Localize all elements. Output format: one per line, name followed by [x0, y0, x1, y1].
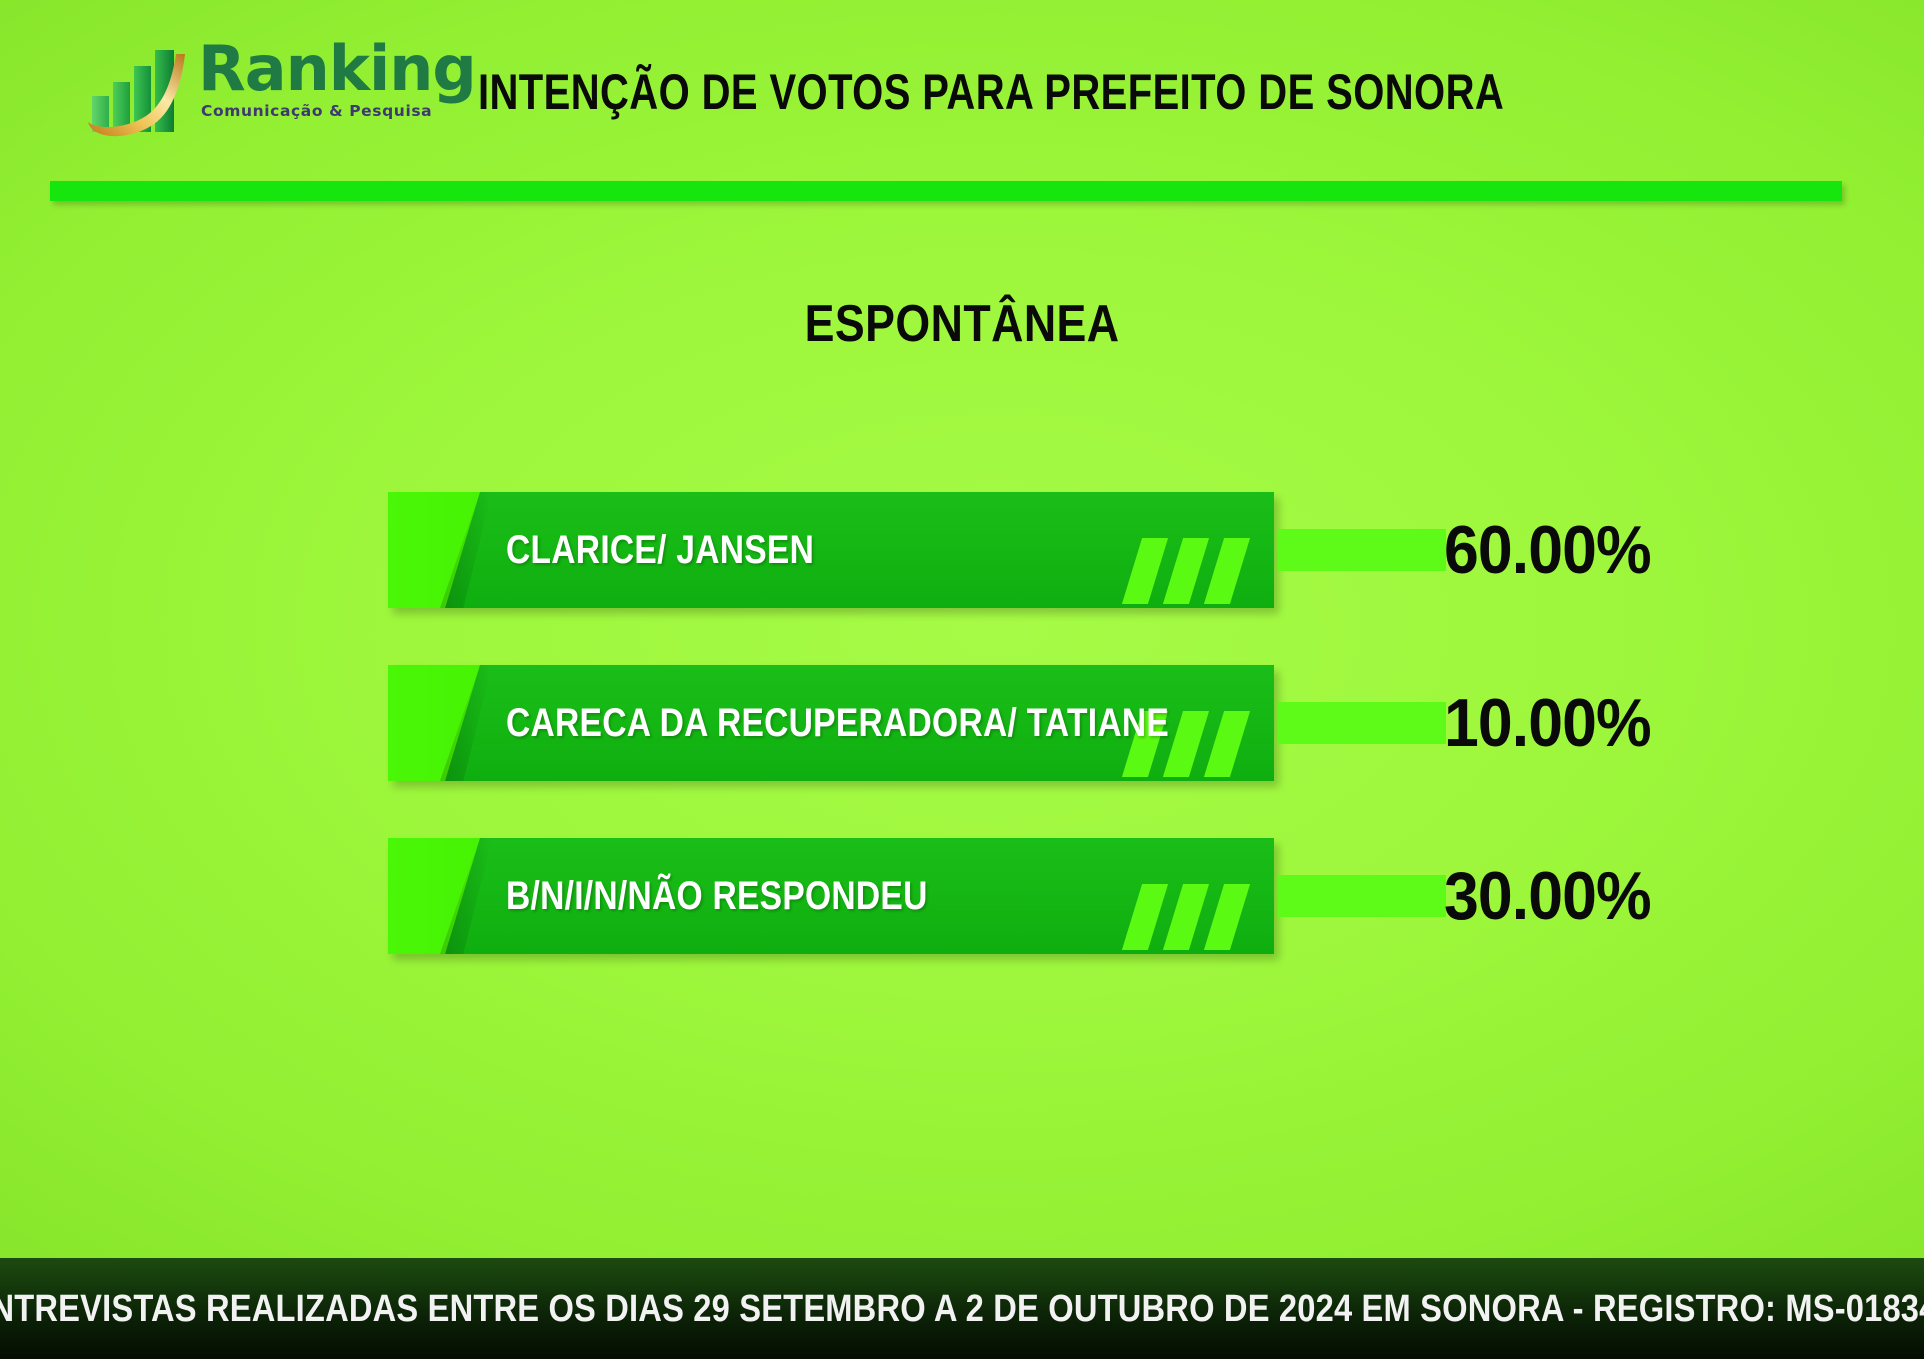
bar-slash-decoration — [1132, 884, 1250, 950]
bar-label: CARECA DA RECUPERADORA/ TATIANE — [506, 665, 1295, 781]
slash-mark — [1204, 884, 1250, 950]
bar-tail-stripe — [1278, 529, 1446, 571]
bar-label-text: CLARICE/ JANSEN — [506, 528, 814, 572]
poll-result-poster: Ranking Comunicação & Pesquisa INTENÇÃO … — [0, 0, 1924, 1359]
page-title: INTENÇÃO DE VOTOS PARA PREFEITO DE SONOR… — [478, 64, 1504, 120]
brand-name: Ranking — [198, 38, 448, 100]
section-title: ESPONTÂNEA — [0, 296, 1924, 352]
chart-row: CLARICE/ JANSEN 60.00% — [388, 492, 1588, 608]
brand-logo: Ranking Comunicação & Pesquisa — [86, 36, 426, 144]
poster-footer: 500 ENTREVISTAS REALIZADAS ENTRE OS DIAS… — [0, 1258, 1924, 1359]
bar-value: 30.00% — [1444, 838, 1669, 954]
bar-value-text: 30.00% — [1444, 860, 1651, 932]
footer-disclaimer: 500 ENTREVISTAS REALIZADAS ENTRE OS DIAS… — [0, 1288, 1924, 1330]
bar-label-text: CARECA DA RECUPERADORA/ TATIANE — [506, 701, 1169, 745]
logo-bars-swoosh-icon — [86, 40, 198, 140]
header-divider — [50, 181, 1842, 201]
brand-tagline: Comunicação & Pesquisa — [201, 102, 448, 120]
bar-chart: CLARICE/ JANSEN 60.00% CARECA DA RECUPER… — [0, 492, 1924, 962]
poster-header: Ranking Comunicação & Pesquisa INTENÇÃO … — [0, 0, 1924, 196]
slash-mark — [1163, 538, 1209, 604]
brand-logo-text: Ranking Comunicação & Pesquisa — [198, 38, 448, 120]
slash-mark — [1122, 884, 1168, 950]
bar-value: 10.00% — [1444, 665, 1669, 781]
chart-row: CARECA DA RECUPERADORA/ TATIANE 10.00% — [388, 665, 1588, 781]
bar-value-text: 10.00% — [1444, 687, 1651, 759]
bar-value-text: 60.00% — [1444, 514, 1651, 586]
bar-label-text: B/N/I/N/NÃO RESPONDEU — [506, 874, 928, 918]
bar-tail-stripe — [1278, 702, 1446, 744]
slash-mark — [1163, 884, 1209, 950]
bar-label: CLARICE/ JANSEN — [506, 492, 873, 608]
slash-mark — [1122, 538, 1168, 604]
bar-value: 60.00% — [1444, 492, 1669, 608]
bar-slash-decoration — [1132, 538, 1250, 604]
chart-row: B/N/I/N/NÃO RESPONDEU 30.00% — [388, 838, 1588, 954]
slash-mark — [1204, 538, 1250, 604]
section-title-label: ESPONTÂNEA — [805, 296, 1120, 352]
bar-tail-stripe — [1278, 875, 1446, 917]
bar-label: B/N/I/N/NÃO RESPONDEU — [506, 838, 1008, 954]
